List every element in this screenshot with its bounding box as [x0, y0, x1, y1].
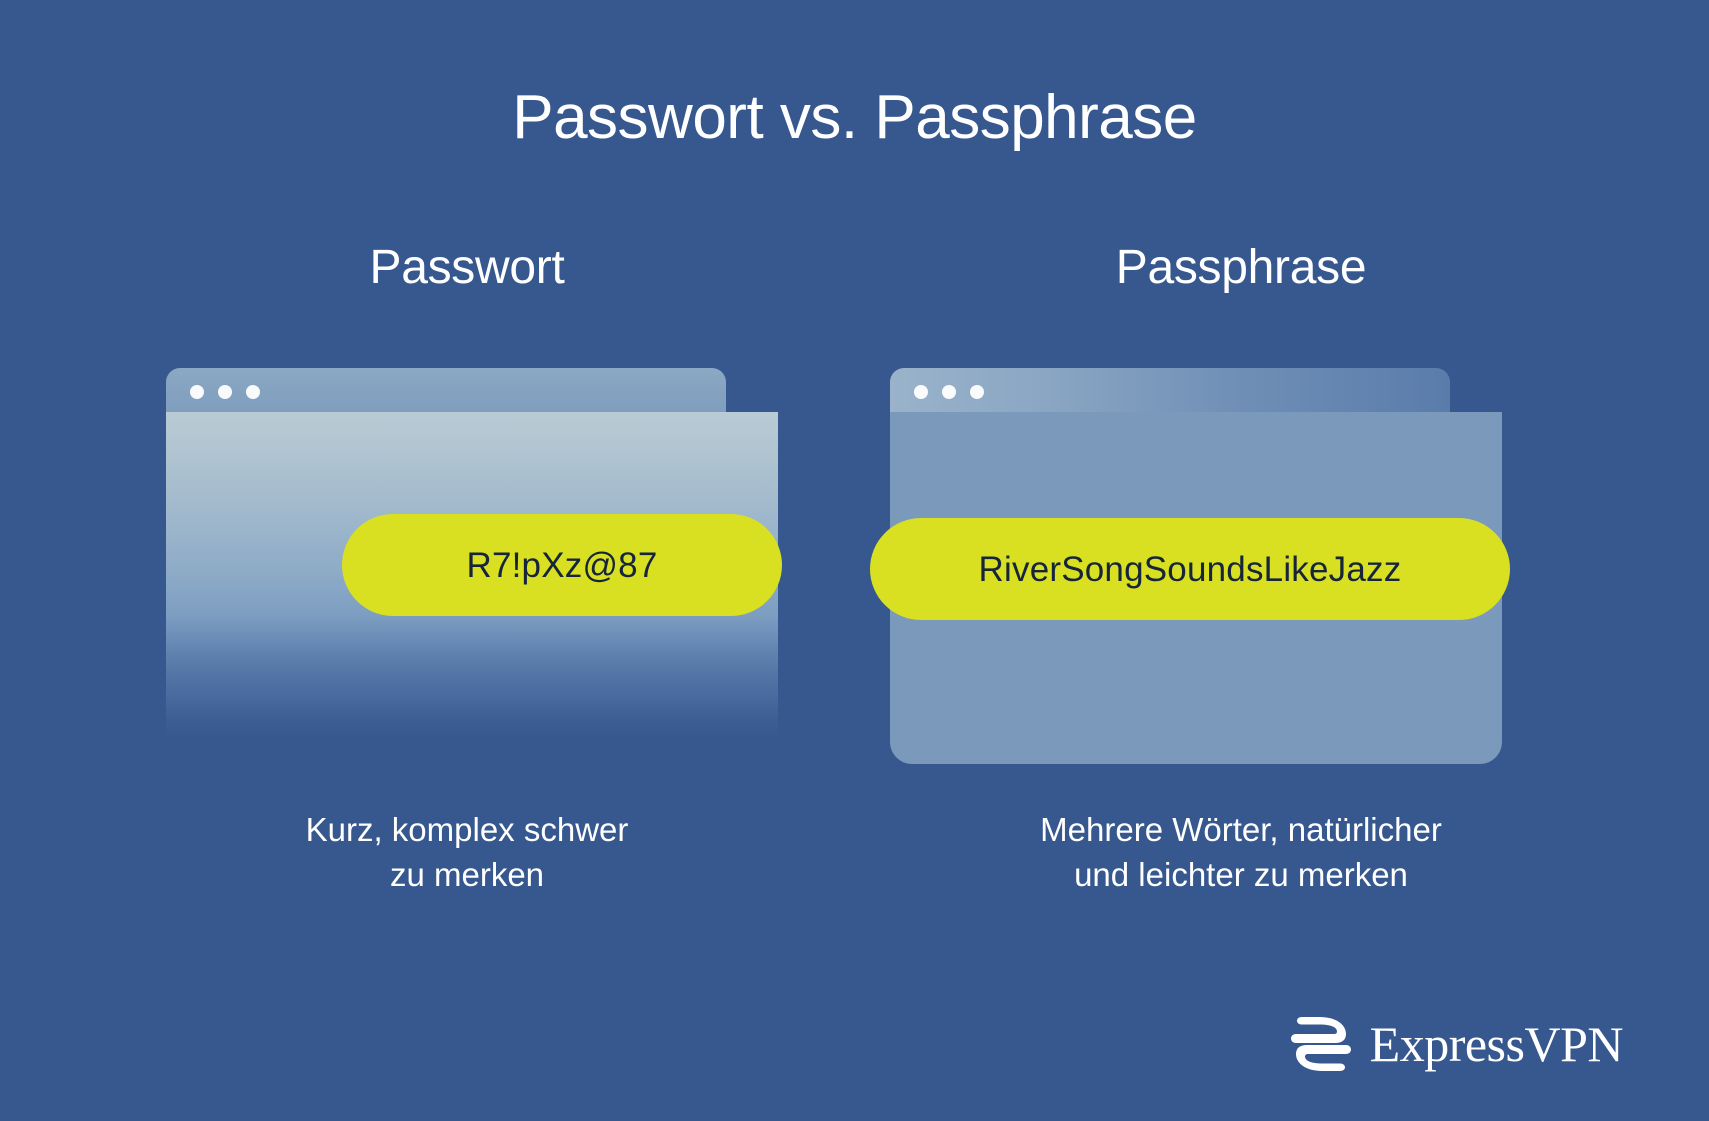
window-dot-close-icon — [914, 385, 928, 399]
expressvpn-wordmark: ExpressVPN — [1370, 1019, 1623, 1069]
caption-line-1: Kurz, komplex schwer — [96, 808, 838, 853]
window-dot-maximize-icon — [970, 385, 984, 399]
window-dot-minimize-icon — [218, 385, 232, 399]
comparison-columns: Passwort R7!pXz@87 Kurz, komplex schwer … — [0, 0, 1709, 1121]
expressvpn-logo: ExpressVPN — [1290, 1015, 1623, 1073]
column-heading-passwort: Passwort — [96, 240, 838, 295]
window-dot-minimize-icon — [942, 385, 956, 399]
column-heading-passphrase: Passphrase — [870, 240, 1612, 295]
window-dot-maximize-icon — [246, 385, 260, 399]
caption-line-2: und leichter zu merken — [870, 853, 1612, 898]
window-titlebar — [890, 368, 1450, 416]
expressvpn-logo-mark-icon — [1290, 1015, 1352, 1073]
password-value: R7!pXz@87 — [466, 548, 657, 583]
passphrase-value: RiverSongSoundsLikeJazz — [979, 552, 1402, 587]
caption-line-2: zu merken — [96, 853, 838, 898]
caption-line-1: Mehrere Wörter, natürlicher — [870, 808, 1612, 853]
caption-passwort: Kurz, komplex schwer zu merken — [96, 808, 838, 897]
passphrase-pill: RiverSongSoundsLikeJazz — [870, 518, 1510, 620]
window-titlebar — [166, 368, 726, 416]
window-dot-close-icon — [190, 385, 204, 399]
caption-passphrase: Mehrere Wörter, natürlicher und leichter… — [870, 808, 1612, 897]
infographic-canvas: Passwort vs. Passphrase Passwort R7!pXz@… — [0, 0, 1709, 1121]
password-pill: R7!pXz@87 — [342, 514, 782, 616]
